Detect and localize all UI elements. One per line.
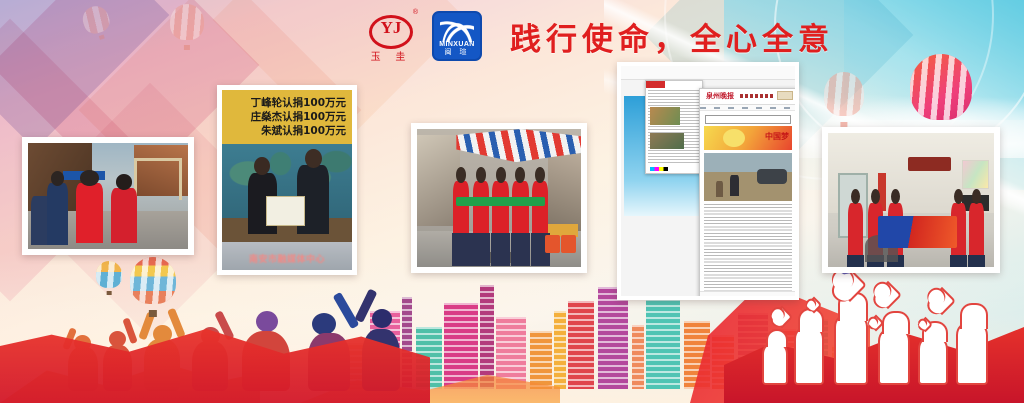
banner-slogan: 践行使命，全心全意 <box>510 14 834 59</box>
photo-donation-poster: 丁峰轮认捐100万元 庄燊杰认捐100万元 朱斌认捐100万元 南安市融媒体中心… <box>222 90 352 270</box>
newspaper-masthead: 泉州晚报 <box>700 89 795 105</box>
yj-logo: ® YJ 玉 圭 <box>366 9 418 63</box>
newspaper-title: 泉州晚报 <box>706 91 734 101</box>
minxuan-logo: MINXUAN 闽 瑄 <box>432 11 482 61</box>
photo-card-newspaper[interactable]: 泉州晚报 中国梦 <box>617 62 799 300</box>
heart-icon <box>928 287 956 315</box>
hand-icon <box>834 313 868 385</box>
poster-footer-org: 南安市融媒体中心 <box>222 252 352 265</box>
hot-air-balloon-icon <box>824 72 864 128</box>
photo-card-indoor-banner[interactable] <box>822 127 1000 273</box>
minxuan-logo-chinese: 闽 瑄 <box>434 47 480 57</box>
heart-icon <box>874 281 902 309</box>
hand-icon <box>918 335 948 385</box>
photo-street-volunteers <box>28 143 188 249</box>
hand-icon <box>762 341 788 385</box>
newspaper-headline <box>705 115 791 124</box>
registered-mark-icon: ® <box>413 9 418 16</box>
newspaper-thumbnail[interactable] <box>645 80 703 174</box>
newspaper-page-footer <box>700 291 795 296</box>
donation-ceremony-photo <box>222 144 352 242</box>
photo-card-donation-poster[interactable]: 丁峰轮认捐100万元 庄燊杰认捐100万元 朱斌认捐100万元 南安市融媒体中心… <box>217 85 357 275</box>
hand-icon <box>956 321 988 385</box>
hot-air-balloon-icon <box>96 261 122 295</box>
newspaper-page[interactable]: 泉州晚报 中国梦 <box>699 88 795 296</box>
newspaper-navbar <box>700 105 795 111</box>
donation-line-1: 丁峰轮认捐100万元 <box>228 96 346 110</box>
yj-logo-monogram: YJ <box>366 18 416 38</box>
newspaper-article-photo <box>704 153 792 201</box>
promotional-banner: ® YJ 玉 圭 MINXUAN 闽 瑄 践行使命，全心全意 <box>0 0 1024 403</box>
heart-icon <box>771 306 794 329</box>
hot-air-balloon-icon <box>130 257 176 317</box>
photo-card-street-volunteers[interactable] <box>22 137 194 255</box>
donation-line-3: 朱斌认捐100万元 <box>228 124 346 138</box>
photo-volunteer-group <box>417 129 581 267</box>
yj-logo-subtext: 玉 圭 <box>366 48 416 63</box>
banner-ad-text: 中国梦 <box>765 131 789 142</box>
bottom-illustration <box>0 253 1024 403</box>
hand-icon <box>878 327 910 385</box>
hand-icon <box>794 325 824 385</box>
wave-icon <box>440 20 474 42</box>
donation-line-2: 庄燊杰认捐100万元 <box>228 110 346 124</box>
donation-poster-footer: 南安市融媒体中心 出 品 <box>222 242 352 270</box>
newspaper-banner-ad: 中国梦 <box>704 126 792 150</box>
poster-footer-produced: 出 品 <box>222 268 352 270</box>
photo-card-volunteer-group[interactable] <box>411 123 587 273</box>
newspaper-body-text <box>704 204 792 296</box>
photo-indoor-banner <box>828 133 994 267</box>
banner-header: ® YJ 玉 圭 MINXUAN 闽 瑄 践行使命，全心全意 <box>0 0 1024 72</box>
donation-poster-text: 丁峰轮认捐100万元 庄燊杰认捐100万元 朱斌认捐100万元 <box>222 90 352 144</box>
photo-newspaper-page: 泉州晚报 中国梦 <box>621 66 795 296</box>
